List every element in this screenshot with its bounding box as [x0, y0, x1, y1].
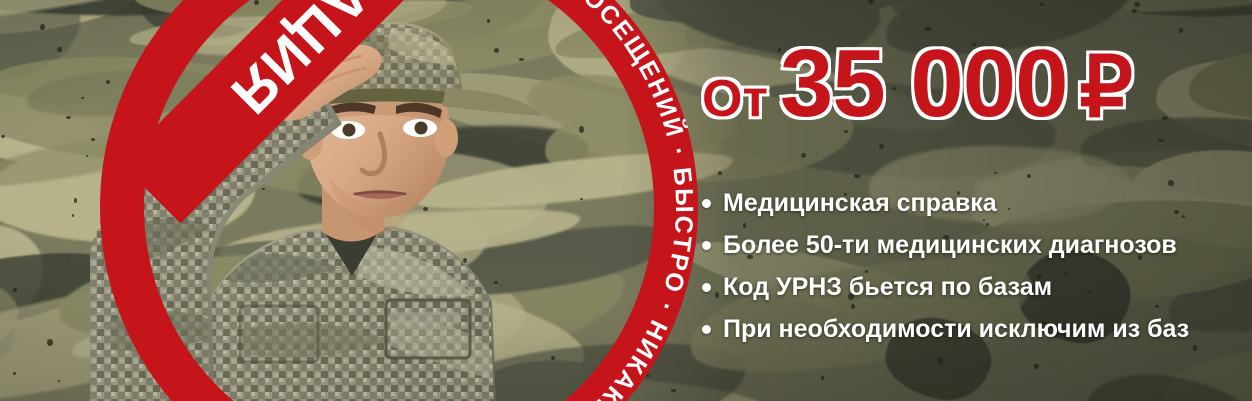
- feature-label: Более 50-ти медицинских диагнозов: [723, 230, 1177, 260]
- price-headline: От 35 000 ₽: [702, 36, 1133, 132]
- list-item: Медицинская справка: [702, 188, 1250, 218]
- price-currency: ₽: [1080, 45, 1133, 129]
- badge-ring-text-label: БЕЗ ПОСЕЩЕНИЙ · БЫСТРО · НИКАКИХ ФЕЙКОВ: [452, 0, 698, 401]
- feature-label: Медицинская справка: [723, 188, 997, 218]
- price-prefix: От: [702, 73, 768, 125]
- bullet-icon: [702, 325, 711, 334]
- bullet-icon: [702, 241, 711, 250]
- list-item: Более 50-ти медицинских диагнозов: [702, 230, 1250, 260]
- list-item: При необходимости исключим из баз: [702, 314, 1250, 344]
- list-item: Код УРНЗ бьется по базам: [702, 272, 1250, 302]
- price-amount: 35 000: [780, 36, 1068, 132]
- bullet-icon: [702, 199, 711, 208]
- feature-list: Медицинская справка Более 50-ти медицинс…: [702, 188, 1250, 356]
- bullet-icon: [702, 283, 711, 292]
- feature-label: Код УРНЗ бьется по базам: [723, 272, 1052, 302]
- promo-banner: БЕЗ ПОСЕЩЕНИЙ · БЫСТРО · НИКАКИХ ФЕЙКОВ …: [0, 0, 1252, 401]
- offer-panel: От 35 000 ₽ Медицинская справка Более 50…: [688, 0, 1252, 401]
- feature-label: При необходимости исключим из баз: [723, 314, 1189, 344]
